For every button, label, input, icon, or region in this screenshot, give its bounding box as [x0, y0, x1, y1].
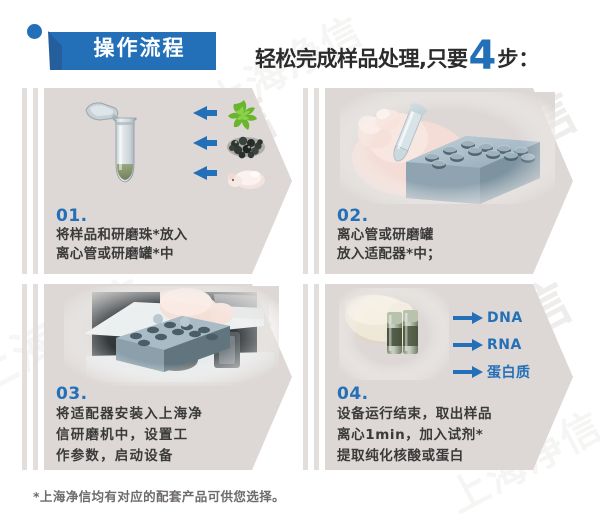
banner-label: 操作流程 — [67, 30, 212, 66]
footnote-text: *上海净信均有对应的配套产品可供您选择。 — [33, 486, 285, 505]
card-content: DNA RNA 蛋白质 04. 设备运行结束，取出样品 — [325, 284, 573, 470]
step-04-artwork — [339, 288, 449, 380]
accent-bar — [22, 88, 27, 274]
step-line: 离心管或研磨罐*中 — [56, 245, 188, 264]
step-description: 设备运行结束，取出样品 离心1min，加入试剂* 提取纯化核酸或蛋白 — [337, 404, 492, 467]
arrow-right-icon — [453, 366, 483, 378]
step-card-03[interactable]: 03. 将适配器安装入上海净 信研磨机中，设置工 作参数，启动设备 — [22, 284, 292, 470]
step-03-artwork — [64, 286, 279, 386]
accent-bar — [33, 88, 38, 274]
accent-bar — [303, 88, 308, 274]
output-label: DNA — [487, 310, 523, 326]
sample-input-arrows — [167, 106, 217, 186]
arrow-right-icon — [453, 339, 483, 351]
card-content: 02. 离心管或研磨罐 放入适配器*中； — [325, 88, 573, 274]
accent-bar — [33, 284, 38, 470]
step-description: 离心管或研磨罐 放入适配器*中； — [337, 226, 441, 264]
card-accent-bars — [22, 284, 44, 470]
card-content: 01. 将样品和研磨珠*放入 离心管或研磨罐*中 — [44, 88, 292, 274]
step-number: 04. — [337, 384, 369, 404]
card-content: 03. 将适配器安装入上海净 信研磨机中，设置工 作参数，启动设备 — [44, 284, 292, 470]
step-card-04[interactable]: DNA RNA 蛋白质 04. 设备运行结束，取出样品 — [303, 284, 573, 470]
step-line: 将适配器安装入上海净 — [56, 404, 203, 425]
arrow-right-icon — [453, 312, 483, 324]
step-01-artwork — [62, 96, 277, 201]
accent-bar — [314, 284, 319, 470]
sample-icons-group — [222, 98, 277, 193]
output-list: DNA RNA 蛋白质 — [453, 306, 568, 386]
steps-grid: 01. 将样品和研磨珠*放入 离心管或研磨罐*中 — [0, 86, 600, 476]
headline-step-count: 4 — [468, 36, 496, 76]
step-line: 放入适配器*中； — [337, 245, 441, 264]
page-header: 操作流程 轻松完成样品处理,只要 4 步： — [0, 0, 600, 86]
output-row: 蛋白质 — [453, 360, 568, 384]
headline-prefix: 轻松完成样品处理,只要 — [255, 43, 467, 73]
output-row: DNA — [453, 306, 568, 330]
headline: 轻松完成样品处理,只要 4 步： — [255, 33, 539, 73]
card-accent-bars — [303, 88, 325, 274]
step-description: 将样品和研磨珠*放入 离心管或研磨罐*中 — [56, 226, 188, 264]
step-line: 离心1min，加入试剂* — [337, 425, 492, 446]
accent-bar — [22, 284, 27, 470]
mouse-sample — [227, 171, 275, 190]
card-accent-bars — [22, 88, 44, 274]
step-number: 01. — [56, 206, 88, 226]
step-number: 02. — [337, 206, 369, 226]
step-02-artwork — [340, 92, 555, 204]
step-card-01[interactable]: 01. 将样品和研磨珠*放入 离心管或研磨罐*中 — [22, 88, 292, 274]
step-line: 设备运行结束，取出样品 — [337, 404, 492, 425]
plant-leaf-sample — [228, 100, 257, 130]
step-line: 离心管或研磨罐 — [337, 226, 441, 245]
output-label: 蛋白质 — [487, 362, 531, 382]
step-description: 将适配器安装入上海净 信研磨机中，设置工 作参数，启动设备 — [56, 404, 203, 467]
step-card-02[interactable]: 02. 离心管或研磨罐 放入适配器*中； — [303, 88, 573, 274]
step-line: 作参数，启动设备 — [56, 446, 203, 467]
centrifuge-tube-icon — [84, 98, 154, 198]
accent-bar — [314, 88, 319, 274]
step-line: 信研磨机中，设置工 — [56, 425, 203, 446]
grinding-beads-sample — [227, 137, 265, 159]
step-line: 提取纯化核酸或蛋白 — [337, 446, 492, 467]
headline-suffix: 步： — [497, 43, 539, 73]
accent-bar — [303, 284, 308, 470]
output-row: RNA — [453, 333, 568, 357]
output-label: RNA — [487, 337, 522, 353]
card-accent-bars — [303, 284, 325, 470]
step-line: 将样品和研磨珠*放入 — [56, 226, 188, 245]
step-number: 03. — [56, 384, 88, 404]
